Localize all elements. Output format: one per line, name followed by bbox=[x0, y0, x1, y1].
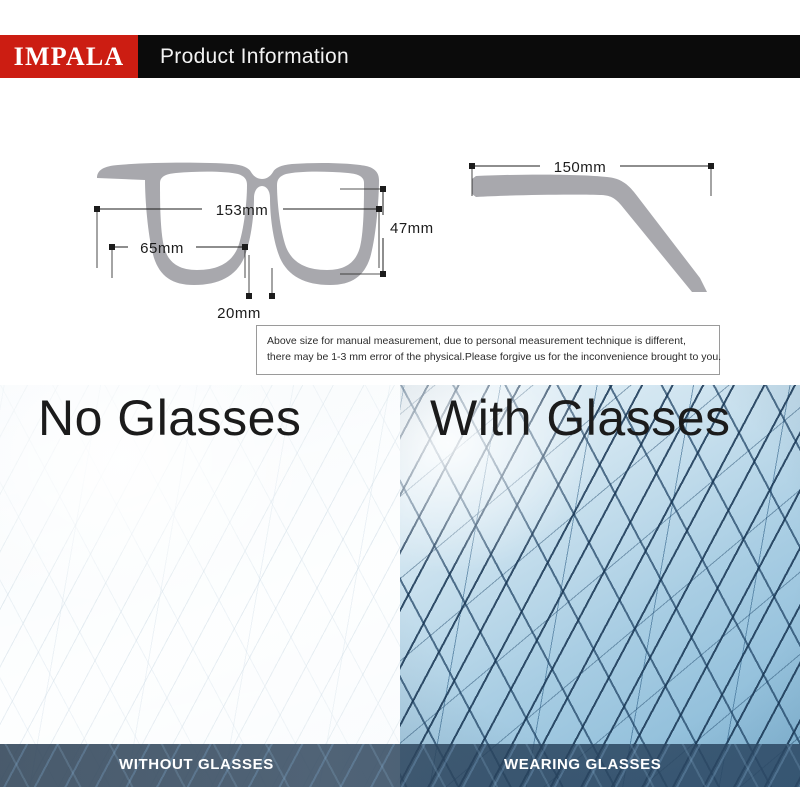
vision-comparison-section: No Glasses With Glasses WITHOUT GLASSES … bbox=[0, 385, 800, 800]
dimension-bridge-width-label: 20mm bbox=[217, 305, 261, 322]
page-title: Product Information bbox=[138, 35, 349, 78]
product-information-page: IMPALA Product Information 153mm bbox=[0, 0, 800, 800]
comparison-half-without-glasses bbox=[0, 385, 400, 800]
disclaimer-line-1: Above size for manual measurement, due t… bbox=[267, 333, 709, 349]
overlay-title-no-glasses: No Glasses bbox=[38, 393, 301, 443]
left-highlight-glow bbox=[0, 385, 400, 800]
overlay-title-with-glasses: With Glasses bbox=[430, 393, 731, 443]
dimension-lens-width-label: 65mm bbox=[140, 240, 184, 257]
measurement-disclaimer: Above size for manual measurement, due t… bbox=[256, 325, 720, 375]
page-header: IMPALA Product Information bbox=[0, 35, 800, 78]
comparison-half-with-glasses bbox=[400, 385, 800, 800]
caption-without-glasses: WITHOUT GLASSES bbox=[119, 756, 274, 773]
bottom-white-strip bbox=[0, 787, 800, 800]
caption-wearing-glasses: WEARING GLASSES bbox=[504, 756, 661, 773]
brand-logo: IMPALA bbox=[0, 35, 138, 78]
eyeglass-frame-front bbox=[97, 163, 379, 285]
dimension-temple-length-label: 150mm bbox=[554, 159, 607, 176]
dimension-lens-height-label: 47mm bbox=[390, 220, 434, 237]
dimension-total-width-label: 153mm bbox=[216, 202, 269, 219]
disclaimer-line-2: there may be 1-3 mm error of the physica… bbox=[267, 349, 709, 365]
brand-logo-text: IMPALA bbox=[14, 44, 125, 70]
eyeglass-temple-arm bbox=[472, 175, 707, 292]
right-vignette bbox=[400, 385, 800, 800]
caption-band: WITHOUT GLASSES WEARING GLASSES bbox=[0, 744, 800, 787]
